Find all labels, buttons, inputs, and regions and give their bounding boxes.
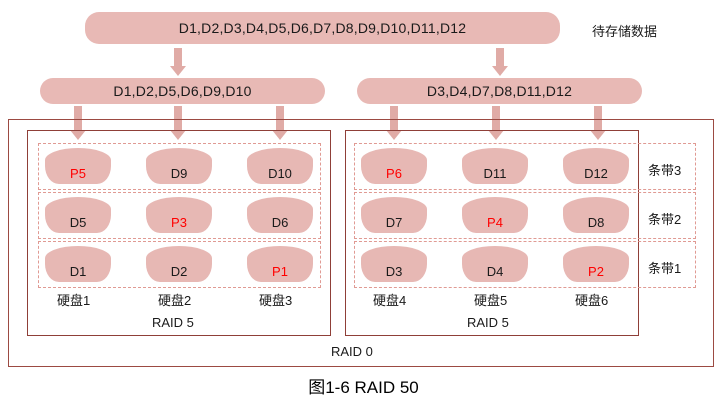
split-bar-left-text: D1,D2,D5,D6,D9,D10 bbox=[113, 83, 251, 99]
figure-caption: 图1-6 RAID 50 bbox=[0, 373, 727, 398]
disk-cell: D10 bbox=[247, 148, 313, 184]
disk-cell: P6 bbox=[361, 148, 427, 184]
split-arrow-right bbox=[492, 48, 508, 76]
disk-label-6: 硬盘6 bbox=[575, 290, 608, 309]
disk-cell: D3 bbox=[361, 246, 427, 282]
split-bar-left: D1,D2,D5,D6,D9,D10 bbox=[40, 78, 325, 104]
split-arrow-left bbox=[170, 48, 186, 76]
disk-label-5: 硬盘5 bbox=[474, 290, 507, 309]
stripe-label-3: 条带3 bbox=[648, 160, 681, 179]
disk-cell: P4 bbox=[462, 197, 528, 233]
source-data-bar: D1,D2,D3,D4,D5,D6,D7,D8,D9,D10,D11,D12 bbox=[85, 12, 560, 44]
disk-cell: D8 bbox=[563, 197, 629, 233]
disk-label-2: 硬盘2 bbox=[158, 290, 191, 309]
disk-label-1: 硬盘1 bbox=[57, 290, 90, 309]
disk-cell: D1 bbox=[45, 246, 111, 282]
split-bar-right-text: D3,D4,D7,D8,D11,D12 bbox=[427, 83, 572, 99]
disk-cell: D6 bbox=[247, 197, 313, 233]
disk-cell: D11 bbox=[462, 148, 528, 184]
disk-cell: D7 bbox=[361, 197, 427, 233]
disk-cell: P3 bbox=[146, 197, 212, 233]
disk-cell: D5 bbox=[45, 197, 111, 233]
split-bar-right: D3,D4,D7,D8,D11,D12 bbox=[357, 78, 642, 104]
disk-cell: D2 bbox=[146, 246, 212, 282]
raid5-label-right: RAID 5 bbox=[467, 315, 509, 330]
disk-cell: P1 bbox=[247, 246, 313, 282]
disk-cell: D4 bbox=[462, 246, 528, 282]
source-data-text: D1,D2,D3,D4,D5,D6,D7,D8,D9,D10,D11,D12 bbox=[179, 20, 466, 36]
raid5-label-left: RAID 5 bbox=[152, 315, 194, 330]
disk-cell: P2 bbox=[563, 246, 629, 282]
disk-cell: D12 bbox=[563, 148, 629, 184]
disk-label-3: 硬盘3 bbox=[259, 290, 292, 309]
disk-cell: P5 bbox=[45, 148, 111, 184]
disk-label-4: 硬盘4 bbox=[373, 290, 406, 309]
disk-cell: D9 bbox=[146, 148, 212, 184]
stripe-label-1: 条带1 bbox=[648, 258, 681, 277]
source-data-label: 待存储数据 bbox=[592, 21, 657, 40]
stripe-label-2: 条带2 bbox=[648, 209, 681, 228]
raid0-label: RAID 0 bbox=[331, 344, 373, 359]
